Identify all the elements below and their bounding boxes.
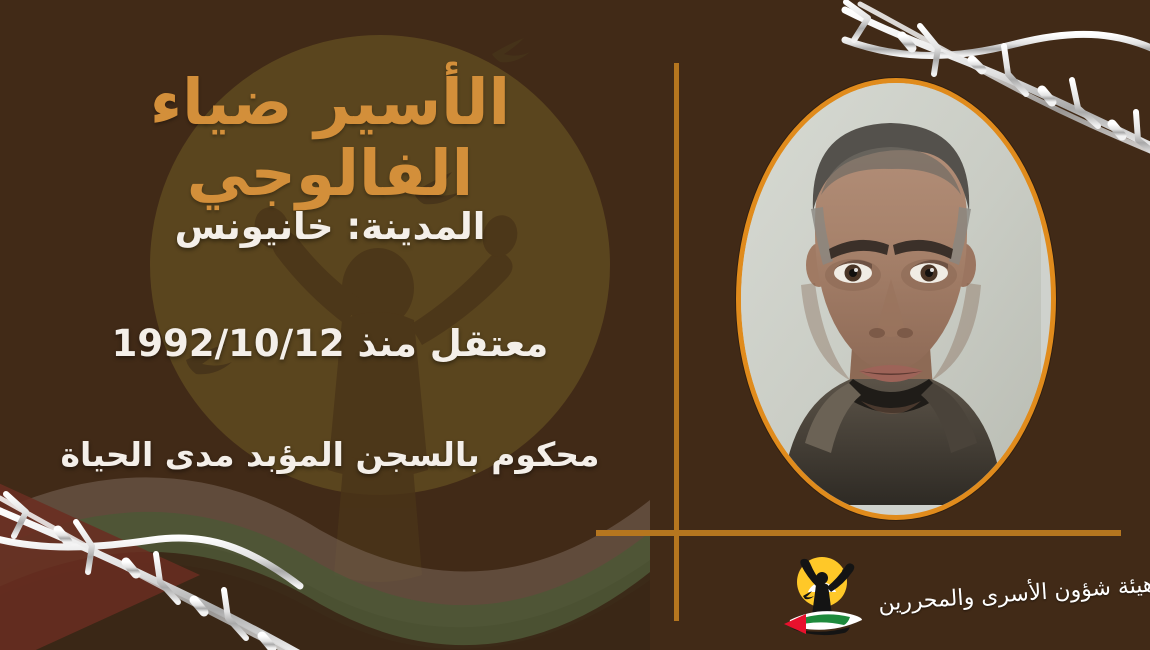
organization-name-label: هيئة شؤون الأسرى والمحررين [877,572,1150,616]
portrait-image [741,83,1041,505]
city-line: المدينة: خانيونس [0,205,660,248]
organization-logo: هيئة شؤون الأسرى والمحررين [772,548,1102,640]
info-column: الأسير ضياء الفالوجي المدينة: خانيونس مع… [0,0,660,650]
vertical-divider [674,63,679,621]
page-title: الأسير ضياء الفالوجي [0,68,660,209]
sentence-line: محكوم بالسجن المؤبد مدى الحياة [0,435,660,474]
horizontal-divider [596,530,1121,536]
prisoner-poster: الأسير ضياء الفالوجي المدينة: خانيونس مع… [0,0,1150,650]
prisoner-portrait [736,78,1056,520]
commission-logo-icon [772,550,864,638]
detained-since-line: معتقل منذ 1992/10/12 [0,322,660,365]
